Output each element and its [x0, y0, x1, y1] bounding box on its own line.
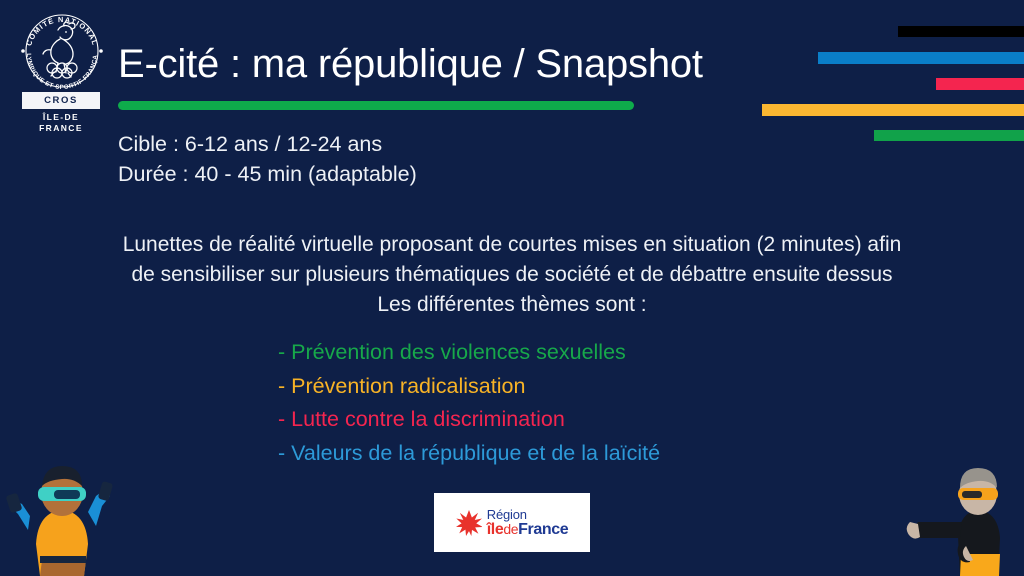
- bar-blue: [818, 52, 1024, 64]
- bar-red: [936, 78, 1024, 90]
- cros-label: CROS: [44, 95, 78, 106]
- svg-text:COMITÉ NATIONAL: COMITÉ NATIONAL: [24, 15, 100, 47]
- theme-item: - Prévention des violences sexuelles: [0, 336, 1024, 370]
- bar-green: [874, 130, 1024, 141]
- cros-region-line1: ÎLE-DE: [22, 112, 100, 123]
- theme-item: - Valeurs de la république et de la laïc…: [0, 437, 1024, 471]
- red-star-icon: [456, 510, 482, 536]
- theme-label: Valeurs de la république et de la laïcit…: [291, 441, 660, 465]
- slide-canvas: COMITÉ NATIONAL OLYMPIQUE ET SPORTIF FRA…: [0, 0, 1024, 576]
- bar-black: [898, 26, 1024, 37]
- theme-label: Prévention des violences sexuelles: [291, 340, 626, 364]
- themes-list: - Prévention des violences sexuelles- Pr…: [0, 336, 1024, 470]
- theme-label: Prévention radicalisation: [291, 374, 525, 398]
- theme-bullet: -: [278, 407, 285, 431]
- body-line-1: Lunettes de réalité virtuelle proposant …: [0, 230, 1024, 260]
- theme-item: - Lutte contre la discrimination: [0, 403, 1024, 437]
- cros-region: ÎLE-DE FRANCE: [22, 112, 100, 134]
- cros-region-line2: FRANCE: [22, 123, 100, 134]
- region-idf-ile: île: [487, 521, 504, 538]
- cnosf-ring-top: COMITÉ NATIONAL: [24, 15, 100, 47]
- body-line-3: Les différentes thèmes sont :: [0, 290, 1024, 320]
- region-idf-logo: Région îledeFrance: [434, 493, 590, 552]
- theme-item: - Prévention radicalisation: [0, 370, 1024, 404]
- theme-label: Lutte contre la discrimination: [291, 407, 565, 431]
- meta-duration: Durée : 40 - 45 min (adaptable): [118, 159, 417, 189]
- vr-user-left-illustration: [2, 460, 126, 576]
- meta-target: Cible : 6-12 ans / 12-24 ans: [118, 129, 417, 159]
- region-idf-france: France: [518, 521, 568, 538]
- theme-bullet: -: [278, 441, 285, 465]
- vr-user-right-illustration: [902, 460, 1020, 576]
- region-idf-line1: Région: [487, 508, 568, 521]
- body-line-2: de sensibiliser sur plusieurs thématique…: [0, 260, 1024, 290]
- theme-bullet: -: [278, 340, 285, 364]
- bar-yellow: [762, 104, 1024, 116]
- slide-title: E-cité : ma république / Snapshot: [118, 42, 703, 87]
- slide-meta: Cible : 6-12 ans / 12-24 ans Durée : 40 …: [118, 129, 417, 189]
- body-paragraph: Lunettes de réalité virtuelle proposant …: [0, 230, 1024, 320]
- region-idf-de: de: [503, 521, 518, 537]
- cros-band: CROS: [22, 92, 100, 109]
- title-underline-rule: [118, 101, 634, 110]
- theme-bullet: -: [278, 374, 285, 398]
